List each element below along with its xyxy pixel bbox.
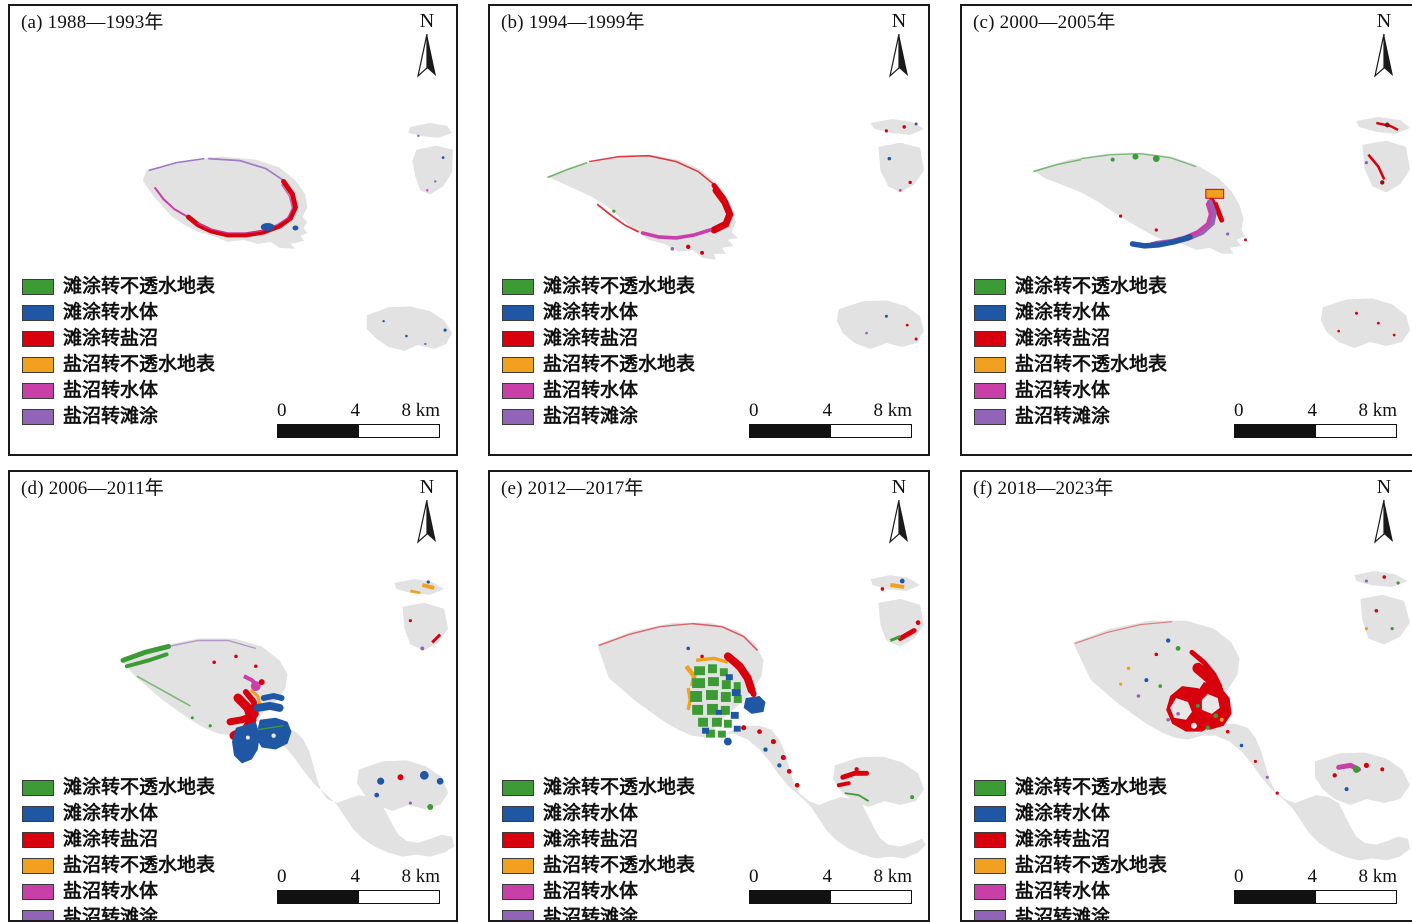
legend-swatch-tidal-flat-to-water [974,305,1006,321]
north-label-b: N [884,11,914,31]
legend-swatch-tidal-flat-to-saltmarsh [502,832,534,848]
north-arrow-f: N [1369,477,1399,547]
legend-item-tidal-flat-to-saltmarsh[interactable]: 滩涂转盐沼 [974,326,1167,351]
legend-swatch-saltmarsh-to-impervious [974,858,1006,874]
legend-item-tidal-flat-to-water[interactable]: 滩涂转水体 [502,300,695,325]
scale-segment-black [278,425,359,437]
legend-f: 滩涂转不透水地表 滩涂转水体 滩涂转盐沼 盐沼转不透水地表 盐沼转水体 盐沼转滩… [974,775,1167,922]
legend-label-tidal-flat-to-saltmarsh: 滩涂转盐沼 [63,329,158,348]
panel-title-f: (f) 2018—2023年 [973,478,1114,500]
legend-swatch-tidal-flat-to-impervious [502,780,534,796]
map-panel-d[interactable]: (d) 2006—2011年 N 滩涂转不透水地表 滩涂转水体 滩涂转盐沼 [8,470,458,922]
legend-label-saltmarsh-to-tidal-flat: 盐沼转滩涂 [63,407,158,426]
legend-label-saltmarsh-to-tidal-flat: 盐沼转滩涂 [63,908,158,922]
legend-swatch-saltmarsh-to-water [22,383,54,399]
legend-item-saltmarsh-to-impervious[interactable]: 盐沼转不透水地表 [502,352,695,377]
scale-track [749,890,912,904]
legend-item-saltmarsh-to-impervious[interactable]: 盐沼转不透水地表 [22,853,215,878]
legend-label-tidal-flat-to-saltmarsh: 滩涂转盐沼 [1015,329,1110,348]
scale-segment-white [831,891,912,903]
legend-item-saltmarsh-to-water[interactable]: 盐沼转水体 [974,879,1167,904]
legend-e: 滩涂转不透水地表 滩涂转水体 滩涂转盐沼 盐沼转不透水地表 盐沼转水体 盐沼转滩… [502,775,695,922]
legend-a: 滩涂转不透水地表 滩涂转水体 滩涂转盐沼 盐沼转不透水地表 盐沼转水体 盐沼转滩… [22,274,215,429]
scale-tick-8: 8 km [873,400,912,422]
legend-item-tidal-flat-to-water[interactable]: 滩涂转水体 [974,300,1167,325]
legend-label-tidal-flat-to-impervious: 滩涂转不透水地表 [543,277,695,296]
scale-track [277,890,440,904]
legend-label-tidal-flat-to-impervious: 滩涂转不透水地表 [63,277,215,296]
map-panel-a[interactable]: (a) 1988—1993年 N 滩涂转不透水地表 滩涂转水体 滩涂转盐沼 [8,4,458,456]
legend-label-tidal-flat-to-water: 滩涂转水体 [63,804,158,823]
legend-b: 滩涂转不透水地表 滩涂转水体 滩涂转盐沼 盐沼转不透水地表 盐沼转水体 盐沼转滩… [502,274,695,429]
legend-swatch-saltmarsh-to-water [974,383,1006,399]
scale-segment-black [750,425,831,437]
legend-swatch-saltmarsh-to-tidal-flat [22,409,54,425]
legend-swatch-saltmarsh-to-impervious [502,357,534,373]
legend-swatch-saltmarsh-to-water [502,884,534,900]
scale-tick-0: 0 [1234,400,1244,422]
legend-item-saltmarsh-to-water[interactable]: 盐沼转水体 [22,378,215,403]
legend-swatch-tidal-flat-to-water [22,806,54,822]
scale-bar-d: 0 4 8 km [277,866,440,904]
scale-segment-white [359,891,440,903]
scale-tick-4: 4 [350,866,360,888]
legend-label-saltmarsh-to-impervious: 盐沼转不透水地表 [63,355,215,374]
legend-label-tidal-flat-to-saltmarsh: 滩涂转盐沼 [543,830,638,849]
legend-swatch-tidal-flat-to-water [974,806,1006,822]
legend-label-saltmarsh-to-tidal-flat: 盐沼转滩涂 [1015,908,1110,922]
scale-segment-black [278,891,359,903]
legend-swatch-tidal-flat-to-saltmarsh [974,832,1006,848]
scale-bar-e: 0 4 8 km [749,866,912,904]
north-label-e: N [884,477,914,497]
panel-title-e: (e) 2012—2017年 [501,478,644,500]
scale-tick-8: 8 km [1358,866,1397,888]
north-label-d: N [412,477,442,497]
scale-segment-black [750,891,831,903]
legend-label-saltmarsh-to-water: 盐沼转水体 [1015,882,1110,901]
legend-swatch-saltmarsh-to-tidal-flat [22,910,54,922]
scale-track [1234,424,1397,438]
scale-segment-black [1235,425,1316,437]
legend-label-tidal-flat-to-water: 滩涂转水体 [1015,303,1110,322]
legend-item-saltmarsh-to-tidal-flat[interactable]: 盐沼转滩涂 [502,404,695,429]
legend-swatch-tidal-flat-to-water [502,806,534,822]
legend-label-tidal-flat-to-impervious: 滩涂转不透水地表 [1015,778,1167,797]
north-arrow-icon [416,498,438,544]
legend-swatch-saltmarsh-to-tidal-flat [974,409,1006,425]
north-label-c: N [1369,11,1399,31]
map-panel-e[interactable]: (e) 2012—2017年 N 滩涂转不透水地表 滩涂转水体 滩涂转盐沼 [488,470,930,922]
legend-item-saltmarsh-to-tidal-flat[interactable]: 盐沼转滩涂 [22,404,215,429]
map-panel-b[interactable]: (b) 1994—1999年 N 滩涂转不透水地表 滩涂转水体 滩涂转盐沼 [488,4,930,456]
legend-swatch-tidal-flat-to-saltmarsh [502,331,534,347]
legend-swatch-tidal-flat-to-saltmarsh [22,331,54,347]
north-arrow-d: N [412,477,442,547]
legend-item-saltmarsh-to-water[interactable]: 盐沼转水体 [974,378,1167,403]
north-arrow-e: N [884,477,914,547]
legend-swatch-saltmarsh-to-impervious [502,858,534,874]
legend-label-tidal-flat-to-saltmarsh: 滩涂转盐沼 [63,830,158,849]
scale-tick-8: 8 km [401,400,440,422]
legend-item-tidal-flat-to-water[interactable]: 滩涂转水体 [974,801,1167,826]
legend-swatch-tidal-flat-to-saltmarsh [22,832,54,848]
scale-tick-0: 0 [1234,866,1244,888]
legend-label-tidal-flat-to-water: 滩涂转水体 [1015,804,1110,823]
legend-label-tidal-flat-to-water: 滩涂转水体 [543,303,638,322]
scale-track [1234,890,1397,904]
north-label-f: N [1369,477,1399,497]
legend-item-saltmarsh-to-water[interactable]: 盐沼转水体 [22,879,215,904]
legend-swatch-tidal-flat-to-impervious [974,279,1006,295]
legend-swatch-saltmarsh-to-water [974,884,1006,900]
legend-swatch-saltmarsh-to-tidal-flat [502,409,534,425]
legend-item-tidal-flat-to-impervious[interactable]: 滩涂转不透水地表 [974,775,1167,800]
legend-swatch-tidal-flat-to-impervious [22,780,54,796]
legend-item-saltmarsh-to-tidal-flat[interactable]: 盐沼转滩涂 [22,905,215,922]
north-arrow-icon [1373,498,1395,544]
scale-segment-white [1316,891,1397,903]
scale-tick-8: 8 km [1358,400,1397,422]
scale-tick-8: 8 km [873,866,912,888]
legend-label-tidal-flat-to-water: 滩涂转水体 [63,303,158,322]
legend-item-tidal-flat-to-water[interactable]: 滩涂转水体 [22,801,215,826]
scale-tick-0: 0 [749,400,759,422]
scale-segment-white [359,425,440,437]
legend-item-saltmarsh-to-impervious[interactable]: 盐沼转不透水地表 [22,352,215,377]
scale-segment-white [831,425,912,437]
scale-bar-c: 0 4 8 km [1234,400,1397,438]
legend-item-tidal-flat-to-saltmarsh[interactable]: 滩涂转盐沼 [502,326,695,351]
legend-swatch-saltmarsh-to-tidal-flat [974,910,1006,922]
legend-swatch-saltmarsh-to-impervious [22,357,54,373]
legend-label-saltmarsh-to-impervious: 盐沼转不透水地表 [543,355,695,374]
panel-title-d: (d) 2006—2011年 [21,478,164,500]
scale-bar-a: 0 4 8 km [277,400,440,438]
scale-tick-4: 4 [822,866,832,888]
legend-label-saltmarsh-to-water: 盐沼转水体 [63,381,158,400]
legend-swatch-saltmarsh-to-impervious [974,357,1006,373]
legend-label-saltmarsh-to-impervious: 盐沼转不透水地表 [1015,856,1167,875]
legend-item-tidal-flat-to-water[interactable]: 滩涂转水体 [22,300,215,325]
legend-item-saltmarsh-to-impervious[interactable]: 盐沼转不透水地表 [974,853,1167,878]
legend-swatch-saltmarsh-to-tidal-flat [502,910,534,922]
legend-label-tidal-flat-to-saltmarsh: 滩涂转盐沼 [1015,830,1110,849]
scale-tick-4: 4 [1307,866,1317,888]
legend-item-tidal-flat-to-impervious[interactable]: 滩涂转不透水地表 [502,274,695,299]
figure-grid: (a) 1988—1993年 N 滩涂转不透水地表 滩涂转水体 滩涂转盐沼 [0,0,1412,918]
scale-tick-4: 4 [822,400,832,422]
panel-title-a: (a) 1988—1993年 [21,12,164,34]
legend-swatch-tidal-flat-to-water [502,305,534,321]
legend-c: 滩涂转不透水地表 滩涂转水体 滩涂转盐沼 盐沼转不透水地表 盐沼转水体 盐沼转滩… [974,274,1167,429]
legend-item-saltmarsh-to-tidal-flat[interactable]: 盐沼转滩涂 [502,905,695,922]
legend-label-tidal-flat-to-impervious: 滩涂转不透水地表 [63,778,215,797]
legend-label-saltmarsh-to-tidal-flat: 盐沼转滩涂 [543,407,638,426]
legend-item-saltmarsh-to-impervious[interactable]: 盐沼转不透水地表 [974,352,1167,377]
legend-label-tidal-flat-to-water: 滩涂转水体 [543,804,638,823]
map-panel-c[interactable]: (c) 2000—2005年 N 滩涂转不透水地表 滩涂转水体 滩涂转盐沼 [960,4,1412,456]
legend-label-tidal-flat-to-saltmarsh: 滩涂转盐沼 [543,329,638,348]
scale-bar-b: 0 4 8 km [749,400,912,438]
legend-label-saltmarsh-to-water: 盐沼转水体 [543,882,638,901]
legend-swatch-tidal-flat-to-water [22,305,54,321]
map-panel-f[interactable]: (f) 2018—2023年 N 滩涂转不透水地表 滩涂转水体 滩涂转盐沼 [960,470,1412,922]
scale-segment-black [1235,891,1316,903]
legend-item-tidal-flat-to-impervious[interactable]: 滩涂转不透水地表 [22,274,215,299]
legend-swatch-saltmarsh-to-impervious [22,858,54,874]
legend-label-saltmarsh-to-impervious: 盐沼转不透水地表 [1015,355,1167,374]
legend-d: 滩涂转不透水地表 滩涂转水体 滩涂转盐沼 盐沼转不透水地表 盐沼转水体 盐沼转滩… [22,775,215,922]
legend-item-saltmarsh-to-water[interactable]: 盐沼转水体 [502,879,695,904]
legend-item-tidal-flat-to-impervious[interactable]: 滩涂转不透水地表 [974,274,1167,299]
legend-label-saltmarsh-to-water: 盐沼转水体 [63,882,158,901]
scale-tick-0: 0 [277,400,287,422]
legend-item-saltmarsh-to-tidal-flat[interactable]: 盐沼转滩涂 [974,404,1167,429]
north-arrow-icon [1373,32,1395,78]
legend-swatch-tidal-flat-to-impervious [974,780,1006,796]
north-arrow-a: N [412,11,442,81]
north-label-a: N [412,11,442,31]
panel-title-b: (b) 1994—1999年 [501,12,645,34]
legend-label-tidal-flat-to-impervious: 滩涂转不透水地表 [1015,277,1167,296]
legend-item-tidal-flat-to-water[interactable]: 滩涂转水体 [502,801,695,826]
north-arrow-icon [888,32,910,78]
legend-label-saltmarsh-to-impervious: 盐沼转不透水地表 [63,856,215,875]
legend-item-tidal-flat-to-saltmarsh[interactable]: 滩涂转盐沼 [22,827,215,852]
north-arrow-b: N [884,11,914,81]
legend-label-tidal-flat-to-impervious: 滩涂转不透水地表 [543,778,695,797]
north-arrow-icon [416,32,438,78]
scale-tick-0: 0 [749,866,759,888]
scale-tick-4: 4 [350,400,360,422]
scale-segment-white [1316,425,1397,437]
panel-title-c: (c) 2000—2005年 [973,12,1116,34]
scale-tick-8: 8 km [401,866,440,888]
legend-item-tidal-flat-to-saltmarsh[interactable]: 滩涂转盐沼 [22,326,215,351]
legend-item-tidal-flat-to-impervious[interactable]: 滩涂转不透水地表 [22,775,215,800]
legend-swatch-saltmarsh-to-water [22,884,54,900]
north-arrow-icon [888,498,910,544]
legend-label-saltmarsh-to-water: 盐沼转水体 [1015,381,1110,400]
legend-item-tidal-flat-to-saltmarsh[interactable]: 滩涂转盐沼 [974,827,1167,852]
legend-swatch-tidal-flat-to-impervious [502,279,534,295]
legend-label-saltmarsh-to-tidal-flat: 盐沼转滩涂 [1015,407,1110,426]
scale-track [277,424,440,438]
legend-swatch-tidal-flat-to-saltmarsh [974,331,1006,347]
legend-label-saltmarsh-to-tidal-flat: 盐沼转滩涂 [543,908,638,922]
legend-swatch-saltmarsh-to-water [502,383,534,399]
scale-tick-4: 4 [1307,400,1317,422]
legend-item-saltmarsh-to-tidal-flat[interactable]: 盐沼转滩涂 [974,905,1167,922]
scale-tick-0: 0 [277,866,287,888]
legend-label-saltmarsh-to-water: 盐沼转水体 [543,381,638,400]
legend-swatch-tidal-flat-to-impervious [22,279,54,295]
scale-track [749,424,912,438]
legend-item-tidal-flat-to-impervious[interactable]: 滩涂转不透水地表 [502,775,695,800]
legend-item-saltmarsh-to-impervious[interactable]: 盐沼转不透水地表 [502,853,695,878]
scale-bar-f: 0 4 8 km [1234,866,1397,904]
north-arrow-c: N [1369,11,1399,81]
legend-label-saltmarsh-to-impervious: 盐沼转不透水地表 [543,856,695,875]
legend-item-saltmarsh-to-water[interactable]: 盐沼转水体 [502,378,695,403]
legend-item-tidal-flat-to-saltmarsh[interactable]: 滩涂转盐沼 [502,827,695,852]
